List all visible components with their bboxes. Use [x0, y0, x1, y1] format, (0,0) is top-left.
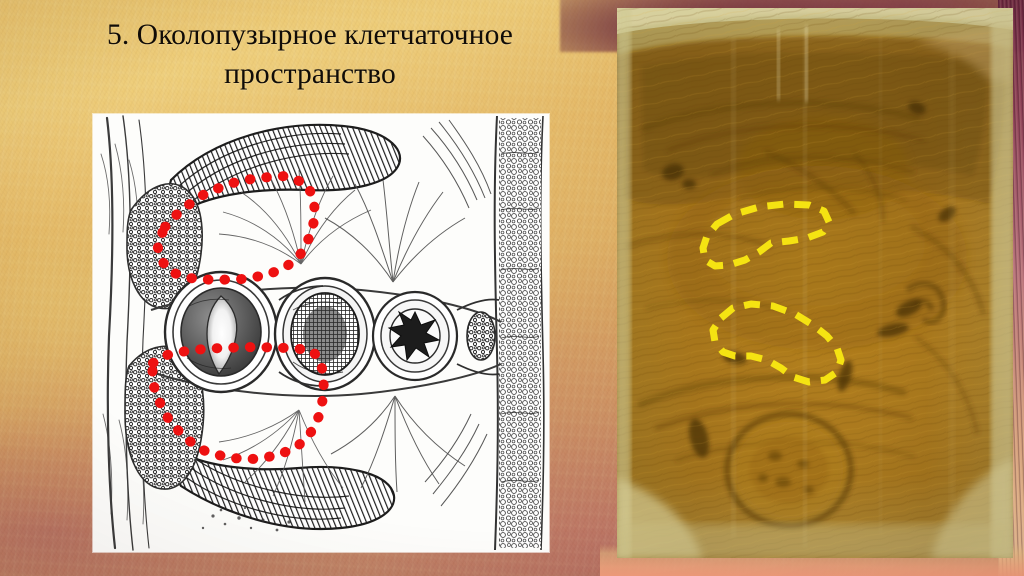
organ-bladder — [165, 272, 277, 392]
slide-title: 5. Околопузырное клетчаточное пространст… — [20, 16, 600, 94]
slide-root: 5. Околопузырное клетчаточное пространст… — [0, 0, 1024, 576]
organ-rectum — [373, 292, 457, 380]
slide-title-line-1: 5. Околопузырное клетчаточное — [20, 16, 600, 55]
specimen-photo-image — [617, 8, 1013, 558]
organ-uterus-vagina — [275, 278, 375, 390]
slide-title-line-2: пространство — [20, 55, 600, 94]
specimen-photo-panel[interactable] — [617, 8, 1013, 558]
anatomical-diagram-panel[interactable] — [93, 114, 549, 552]
anatomical-diagram-image — [93, 114, 549, 552]
